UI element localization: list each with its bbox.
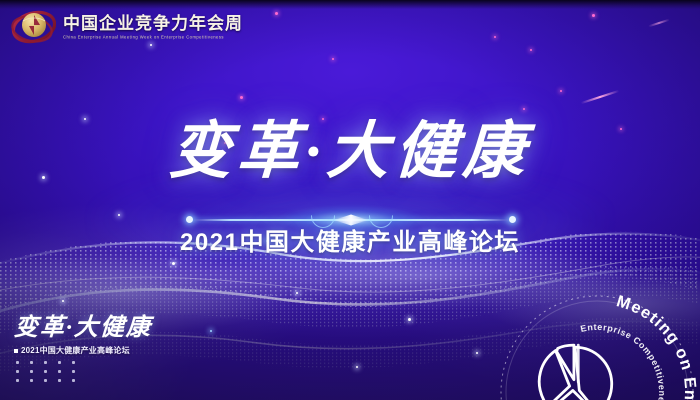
watermark-dot-grid: [16, 361, 152, 388]
badge: Meeting on Enterprise Competitiveness En…: [497, 292, 697, 400]
gold-sphere-emblem-icon: [10, 8, 56, 46]
page-subtitle: 2021中国大健康产业高峰论坛: [0, 222, 700, 257]
poster-canvas: 中国企业竞争力年会周 China Enterprise Annual Meeti…: [0, 0, 700, 400]
square-bullet-icon: [14, 349, 18, 353]
watermark: 变革·大健康 2021中国大健康产业高峰论坛: [14, 316, 152, 388]
corner-logo-english-name: China Enterprise Annual Meeting Week on …: [63, 35, 243, 40]
corner-logo: 中国企业竞争力年会周 China Enterprise Annual Meeti…: [10, 8, 243, 46]
badge-outer-text: Meeting on Enterprise Competitiveness: [506, 292, 699, 400]
sphere-segments-logo-icon: [539, 345, 612, 400]
watermark-subtitle-row: 2021中国大健康产业高峰论坛: [14, 345, 152, 356]
page-title: 变革·大健康: [0, 121, 700, 183]
watermark-subtitle: 2021中国大健康产业高峰论坛: [21, 345, 130, 356]
corner-logo-chinese-name: 中国企业竞争力年会周: [63, 15, 243, 32]
watermark-title: 变革·大健康: [13, 316, 152, 340]
